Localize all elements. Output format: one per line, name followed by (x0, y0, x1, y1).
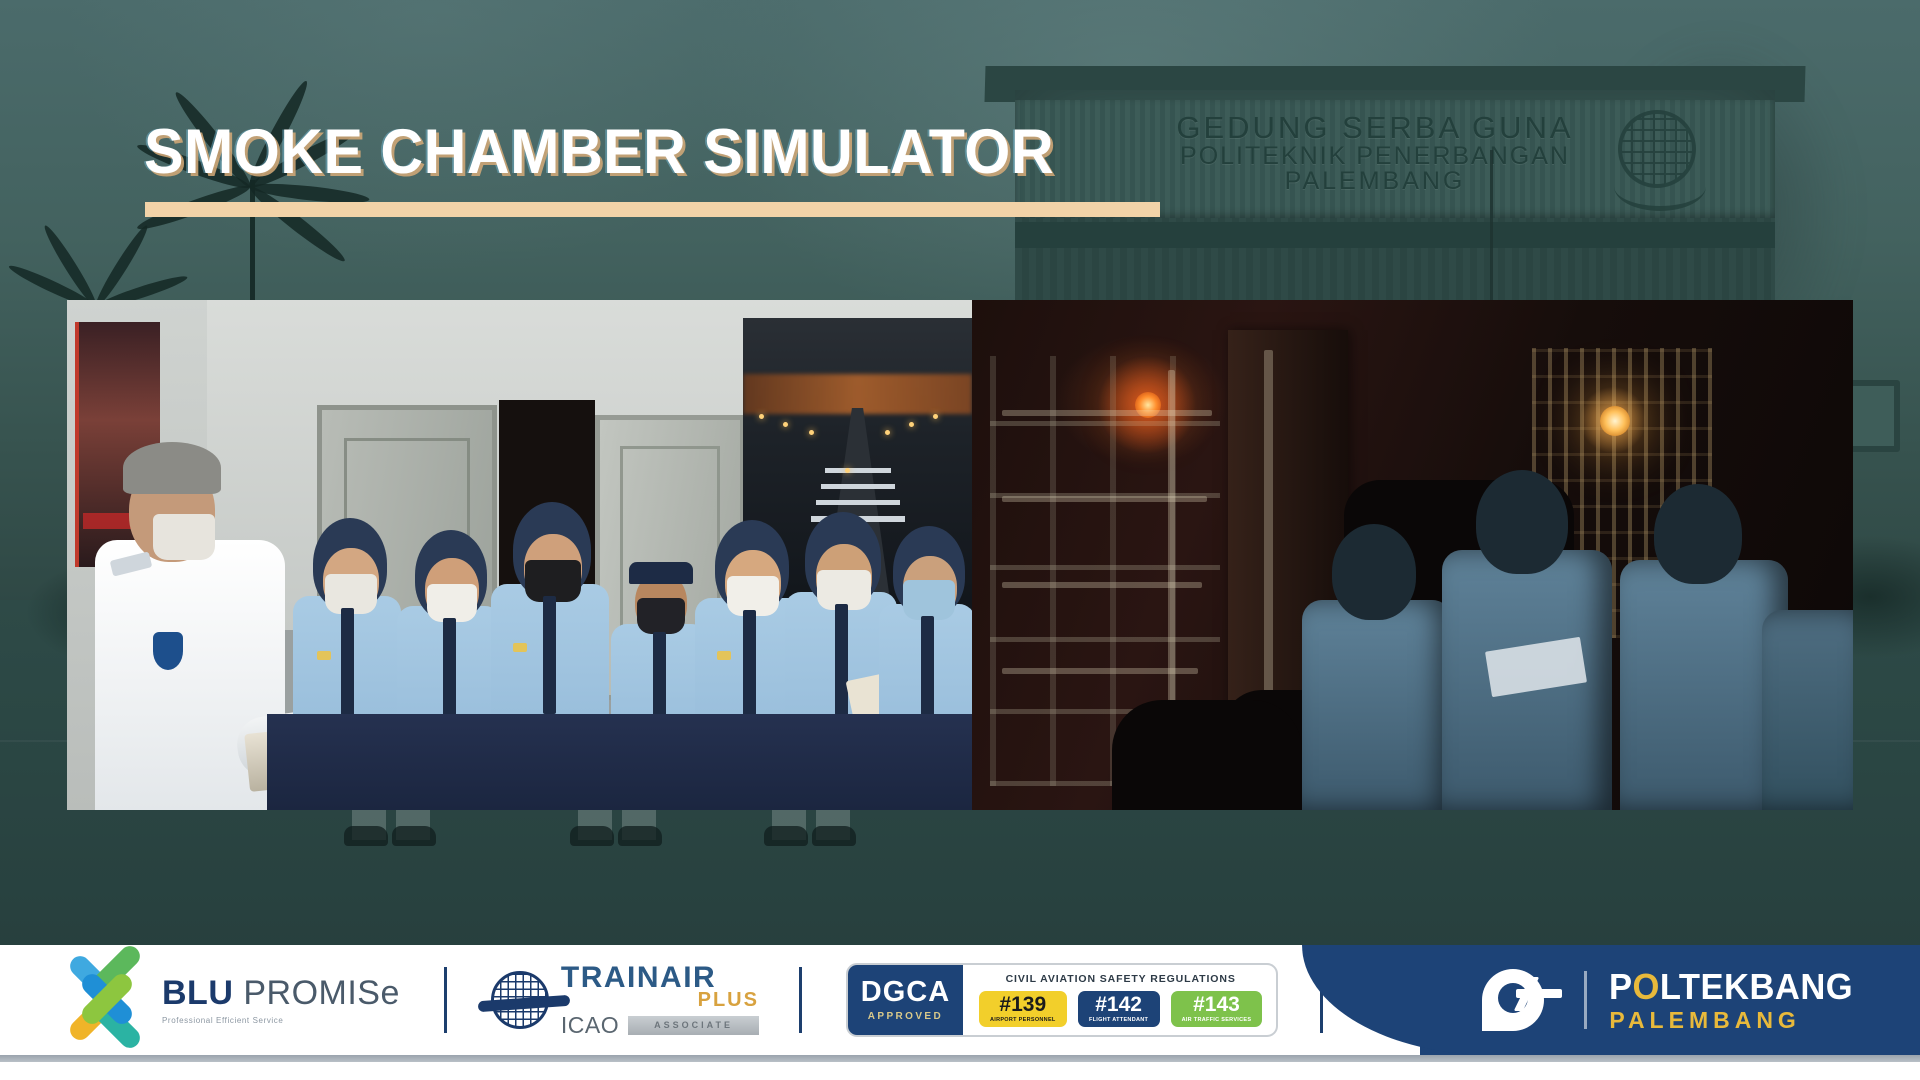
cadet-necktie (543, 596, 556, 714)
poltekbang-title: POLTEKBANG (1609, 969, 1853, 1005)
trainair-associate-badge: ASSOCIATE (628, 1016, 759, 1035)
cadet-face-mask (637, 598, 685, 634)
dgca-chip-139: #139 AIRPORT PERSONNEL (979, 991, 1067, 1027)
chamber-foreground-shadow (1112, 700, 1302, 810)
mural-runway-light (909, 422, 914, 427)
background-person-shoe (812, 826, 856, 846)
chamber-slat (1002, 496, 1207, 502)
poltekbang-title-rest: LTEKBANG (1660, 966, 1853, 1007)
chip-label: AIR TRAFFIC SERVICES (1182, 1017, 1252, 1023)
poltekbang-wordmark: POLTEKBANG PALEMBANG (1609, 969, 1863, 1032)
presentation-slide: GEDUNG SERBA GUNA POLITEKNIK PENERBANGAN… (0, 0, 1920, 1080)
signage-line-2: POLITEKNIK PENERBANGAN (1140, 144, 1610, 170)
mural-runway-light (759, 414, 764, 419)
blu-promise-tagline: Professional Efficient Service (162, 1017, 400, 1025)
footer-divider (799, 967, 802, 1033)
cadet-briefing-photo (67, 300, 972, 810)
cadet-face-mask (427, 584, 477, 622)
logo-trainair-plus: TRAINAIR PLUS ICAO ASSOCIATE (491, 963, 759, 1037)
mural-runway-light (885, 430, 890, 435)
chamber-slat (1002, 410, 1212, 416)
icao-globe-icon (491, 971, 549, 1029)
instructor-hair (123, 442, 221, 494)
dgca-brand-block: DGCA APPROVED (848, 965, 963, 1035)
background-person-shoe (618, 826, 662, 846)
poltekbang-plane-icon (1516, 989, 1562, 998)
dgca-status: APPROVED (868, 1011, 943, 1022)
dgca-brand: DGCA (861, 978, 950, 1007)
chip-number: #139 (990, 994, 1056, 1015)
mural-marking (825, 468, 891, 473)
icao-label: ICAO (561, 1014, 619, 1037)
photo-strip (67, 300, 1853, 810)
background-person-shoe (764, 826, 808, 846)
footer-divider (444, 967, 447, 1033)
poltekbang-divider (1584, 971, 1587, 1029)
mural-runway-light (809, 430, 814, 435)
mural-runway-light (933, 414, 938, 419)
cadet-necktie (341, 608, 354, 718)
slide-title: SMOKE CHAMBER SIMULATOR (144, 116, 1054, 188)
dgca-chip-143: #143 AIR TRAFFIC SERVICES (1171, 991, 1263, 1027)
blu-promise-title-bold: BLU (162, 974, 233, 1012)
dgca-caption: CIVIL AVIATION SAFETY REGULATIONS (979, 973, 1262, 985)
signage-line-1: GEDUNG SERBA GUNA (1140, 112, 1610, 144)
dgca-chip-142: #142 FLIGHT ATTENDANT (1078, 991, 1160, 1027)
chip-label: AIRPORT PERSONNEL (990, 1017, 1056, 1023)
background-person-shoe (570, 826, 614, 846)
chamber-cadet-head (1476, 470, 1568, 574)
chip-label: FLIGHT ATTENDANT (1089, 1017, 1149, 1023)
dgca-chip-list: #139 AIRPORT PERSONNEL #142 FLIGHT ATTEN… (979, 991, 1262, 1027)
footer-bottom-rule (0, 1055, 1920, 1062)
logo-dgca-approved: DGCA APPROVED CIVIL AVIATION SAFETY REGU… (846, 963, 1278, 1037)
cadet-necktie (743, 610, 756, 720)
cadet-cap (629, 562, 693, 584)
background-globe-emblem-icon (1618, 110, 1696, 188)
blu-promise-title: BLU PROMISe (162, 976, 400, 1010)
instructor-face-mask (153, 514, 215, 560)
chamber-cadet-head (1654, 484, 1742, 584)
mural-runway-light (783, 422, 788, 427)
signage-line-3: PALEMBANG (1140, 169, 1610, 195)
poltekbang-city: PALEMBANG (1609, 1009, 1863, 1032)
trainair-wordmark: TRAINAIR PLUS ICAO ASSOCIATE (561, 963, 759, 1037)
logo-poltekbang-palembang: POLTEKBANG PALEMBANG (1420, 945, 1920, 1055)
cadet-necktie (921, 616, 934, 724)
title-underline-rule (145, 202, 1160, 217)
trainair-icao-row: ICAO ASSOCIATE (561, 1014, 759, 1037)
instructor-shoulder-patch (153, 632, 183, 670)
chamber-cadet-figure (1762, 610, 1853, 810)
cadet-name-badge (513, 643, 527, 652)
cadet-face-mask (903, 580, 955, 620)
blu-promise-wordmark: BLU PROMISe Professional Efficient Servi… (162, 976, 400, 1025)
poltekbang-mark-icon (1476, 967, 1562, 1033)
chamber-cadet-head (1332, 524, 1416, 620)
cadet-necktie (835, 604, 848, 718)
mural-marking (816, 500, 900, 505)
background-building-band (1015, 222, 1775, 248)
poltekbang-title-o: O (1633, 966, 1660, 1007)
logo-blu-promise: BLU PROMISe Professional Efficient Servi… (62, 963, 400, 1037)
chamber-cadet-figure (1302, 600, 1452, 810)
mural-marking (821, 484, 895, 489)
icao-wing-icon (478, 995, 571, 1012)
background-person-shoe (344, 826, 388, 846)
footer-accreditation-bar: BLU PROMISe Professional Efficient Servi… (0, 945, 1920, 1080)
cadet-name-badge (717, 651, 731, 660)
cadet-skirt-row (267, 714, 972, 810)
background-person-shoe (392, 826, 436, 846)
chip-number: #143 (1182, 994, 1252, 1015)
smoke-chamber-interior-photo (972, 300, 1853, 810)
cadet-name-badge (317, 651, 331, 660)
dgca-regulations-block: CIVIL AVIATION SAFETY REGULATIONS #139 A… (963, 965, 1276, 1035)
cadet-necktie (443, 618, 456, 724)
chip-number: #142 (1089, 994, 1149, 1015)
mural-runway-light (845, 468, 850, 473)
poltekbang-title-p: P (1609, 966, 1633, 1007)
blu-promise-mark-icon (62, 963, 148, 1037)
chamber-amber-lamp-icon (1600, 406, 1630, 436)
background-building-signage: GEDUNG SERBA GUNA POLITEKNIK PENERBANGAN… (1140, 112, 1610, 195)
blu-promise-title-light: PROMISe (243, 974, 400, 1012)
